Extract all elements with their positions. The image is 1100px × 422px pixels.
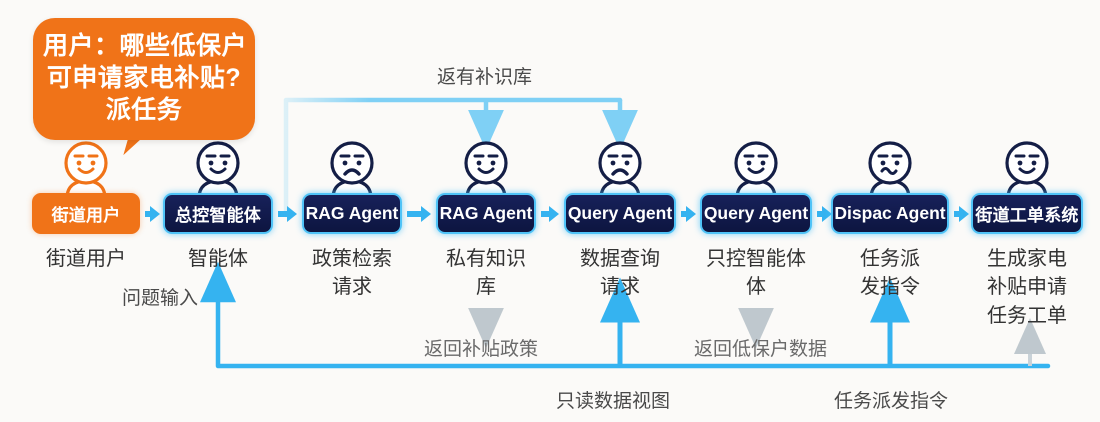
caption-line: 只控智能体 (686, 245, 826, 273)
flow-arrow-6 (817, 211, 823, 217)
node-chip-label: 总控智能体 (175, 201, 261, 226)
node-caption-6: 只控智能体体 (686, 245, 826, 302)
label-dispatch-order: 任务派发指令 (834, 386, 948, 413)
node-chip-label: RAG Agent (440, 203, 533, 224)
node-chip-label: 街道用户 (52, 201, 121, 226)
caption-line: 任务派 (820, 245, 960, 273)
bubble-line-2: 可申请家电补贴? (43, 62, 245, 94)
caption-line: 体 (686, 273, 826, 301)
node-chip-4[interactable]: RAG Agent (436, 193, 536, 234)
label-top-feedback: 返有补识库 (437, 62, 532, 89)
node-caption-8: 生成家电补贴申请任务工单 (957, 245, 1097, 330)
bubble-line-1: 用户：哪些低保户 (43, 30, 245, 62)
node-caption-2: 智能体 (148, 245, 288, 273)
flow-arrow-5 (681, 211, 687, 217)
node-chip-6[interactable]: Query Agent (700, 193, 812, 234)
diagram-canvas: 用户：哪些低保户 可申请家电补贴? 派任务 街道用户街道用户总控智能体智能体RA… (0, 0, 1100, 422)
caption-line: 补贴申请 (957, 273, 1097, 301)
node-chip-label: Query Agent (568, 203, 672, 224)
node-caption-5: 数据查询请求 (550, 245, 690, 302)
caption-line: 生成家电 (957, 245, 1097, 273)
caption-line: 政策检索 (282, 245, 422, 273)
caption-line: 请求 (282, 273, 422, 301)
node-chip-label: Dispac Agent (834, 203, 945, 224)
caption-line: 数据查询 (550, 245, 690, 273)
flow-arrow-2 (278, 211, 288, 217)
caption-line: 智能体 (148, 245, 288, 273)
node-chip-7[interactable]: Dispac Agent (831, 193, 949, 234)
node-caption-3: 政策检索请求 (282, 245, 422, 302)
label-return-data: 返回低保户数据 (694, 334, 827, 361)
node-caption-1: 街道用户 (16, 245, 156, 273)
node-chip-label: 街道工单系统 (975, 201, 1078, 226)
node-chip-3[interactable]: RAG Agent (302, 193, 402, 234)
node-chip-label: Query Agent (704, 203, 808, 224)
node-chip-8[interactable]: 街道工单系统 (971, 193, 1083, 234)
node-chip-1[interactable]: 街道用户 (32, 193, 140, 234)
flow-arrow-1 (145, 211, 151, 217)
label-readonly-view: 只读数据视图 (556, 386, 670, 413)
node-caption-4: 私有知识库 (416, 245, 556, 302)
flow-arrow-3 (407, 211, 422, 217)
node-chip-5[interactable]: Query Agent (564, 193, 676, 234)
label-return-policy: 返回补贴政策 (424, 334, 538, 361)
flow-arrow-7 (954, 211, 960, 217)
node-chip-label: RAG Agent (306, 203, 399, 224)
speech-bubble: 用户：哪些低保户 可申请家电补贴? 派任务 (33, 18, 255, 140)
caption-line: 任务工单 (957, 302, 1097, 330)
label-question-input: 问题输入 (122, 283, 198, 310)
caption-line: 街道用户 (16, 245, 156, 273)
caption-line: 私有知识 (416, 245, 556, 273)
flow-arrow-4 (541, 211, 550, 217)
bubble-line-3: 派任务 (43, 94, 245, 126)
caption-line: 发指令 (820, 273, 960, 301)
node-chip-2[interactable]: 总控智能体 (163, 193, 273, 234)
caption-line: 请求 (550, 273, 690, 301)
caption-line: 库 (416, 273, 556, 301)
node-caption-7: 任务派发指令 (820, 245, 960, 302)
